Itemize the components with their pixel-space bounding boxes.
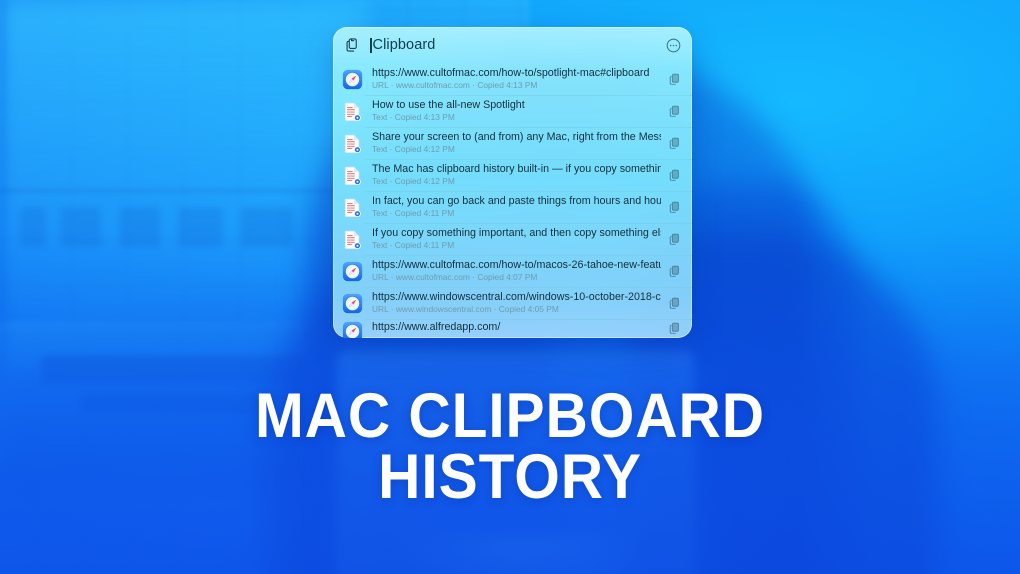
clipboard-item-row[interactable]: The Mac has clipboard history built-in —… <box>333 159 692 191</box>
clipboard-item-row[interactable]: https://www.cultofmac.com/how-to/macos-2… <box>333 255 692 287</box>
clipboard-item-text: https://www.cultofmac.com/how-to/macos-2… <box>372 259 661 283</box>
screenshot-canvas: Clipboard https://www.cultofmac.com/how-… <box>0 0 1020 574</box>
copy-icon[interactable] <box>667 168 682 183</box>
clipboard-item-title: https://www.cultofmac.com/how-to/macos-2… <box>372 259 661 271</box>
clipboard-item-row[interactable]: How to use the all-new SpotlightText · C… <box>333 95 692 127</box>
clipboard-item-row[interactable]: https://www.alfredapp.com/ <box>333 319 692 338</box>
clipboard-item-text: https://www.windowscentral.com/windows-1… <box>372 291 661 315</box>
clipboard-item-title: The Mac has clipboard history built-in —… <box>372 163 661 175</box>
copy-icon[interactable] <box>667 296 682 311</box>
text-cursor-caret <box>370 38 372 53</box>
text-document-icon <box>342 197 363 218</box>
page-title-line-1: MAC CLIPBOARD <box>36 386 985 447</box>
clipboard-item-text: How to use the all-new SpotlightText · C… <box>372 99 661 123</box>
clipboard-item-subtitle: Text · Copied 4:11 PM <box>372 240 661 251</box>
text-document-icon <box>342 101 363 122</box>
clipboard-item-text: https://www.cultofmac.com/how-to/spotlig… <box>372 67 661 91</box>
copy-icon[interactable] <box>667 72 682 87</box>
text-document-icon <box>342 165 363 186</box>
clipboard-item-text: https://www.alfredapp.com/ <box>372 321 661 333</box>
clipboard-item-title: In fact, you can go back and paste thing… <box>372 195 661 207</box>
clipboard-item-title: https://www.cultofmac.com/how-to/spotlig… <box>372 67 661 79</box>
clipboard-item-list[interactable]: https://www.cultofmac.com/how-to/spotlig… <box>333 63 692 338</box>
clipboard-item-subtitle: URL · www.cultofmac.com · Copied 4:07 PM <box>372 272 661 283</box>
clipboard-panel-header: Clipboard <box>333 27 692 63</box>
copy-icon[interactable] <box>667 104 682 119</box>
clipboard-item-text: The Mac has clipboard history built-in —… <box>372 163 661 187</box>
clipboard-item-subtitle: Text · Copied 4:11 PM <box>372 208 661 219</box>
clipboard-item-title: If you copy something important, and the… <box>372 227 661 239</box>
clipboard-item-subtitle: Text · Copied 4:12 PM <box>372 176 661 187</box>
text-document-icon <box>342 133 363 154</box>
copy-icon[interactable] <box>667 232 682 247</box>
safari-icon <box>342 261 363 282</box>
clipboard-title: Clipboard <box>373 37 436 53</box>
clipboard-item-subtitle: URL · www.cultofmac.com · Copied 4:13 PM <box>372 80 661 91</box>
clipboard-item-row[interactable]: If you copy something important, and the… <box>333 223 692 255</box>
copy-icon[interactable] <box>667 264 682 279</box>
clipboard-item-text: In fact, you can go back and paste thing… <box>372 195 661 219</box>
safari-icon <box>342 293 363 314</box>
ellipsis-circle-icon[interactable] <box>665 37 682 54</box>
clipboard-item-text: Share your screen to (and from) any Mac,… <box>372 131 661 155</box>
clipboard-item-title: https://www.alfredapp.com/ <box>372 321 661 333</box>
clipboard-item-row[interactable]: In fact, you can go back and paste thing… <box>333 191 692 223</box>
clipboard-item-title: Share your screen to (and from) any Mac,… <box>372 131 661 143</box>
clipboard-item-title: How to use the all-new Spotlight <box>372 99 661 111</box>
clipboard-item-subtitle: Text · Copied 4:12 PM <box>372 144 661 155</box>
safari-icon <box>342 321 363 338</box>
copy-icon[interactable] <box>667 136 682 151</box>
safari-icon <box>342 69 363 90</box>
clipboard-item-title: https://www.windowscentral.com/windows-1… <box>372 291 661 303</box>
copy-icon[interactable] <box>667 200 682 215</box>
clipboard-item-row[interactable]: Share your screen to (and from) any Mac,… <box>333 127 692 159</box>
clipboard-item-subtitle: Text · Copied 4:13 PM <box>372 112 661 123</box>
clipboard-panel[interactable]: Clipboard https://www.cultofmac.com/how-… <box>333 27 692 338</box>
clipboard-item-row[interactable]: https://www.cultofmac.com/how-to/spotlig… <box>333 63 692 95</box>
clipboard-item-subtitle: URL · www.windowscentral.com · Copied 4:… <box>372 304 661 315</box>
page-title-line-2: HISTORY <box>36 447 985 508</box>
copy-icon[interactable] <box>667 321 682 336</box>
page-title: MAC CLIPBOARD HISTORY <box>0 386 1020 508</box>
clipboard-item-row[interactable]: https://www.windowscentral.com/windows-1… <box>333 287 692 319</box>
clipboard-item-text: If you copy something important, and the… <box>372 227 661 251</box>
clipboard-documents-icon <box>344 37 361 54</box>
text-document-icon <box>342 229 363 250</box>
